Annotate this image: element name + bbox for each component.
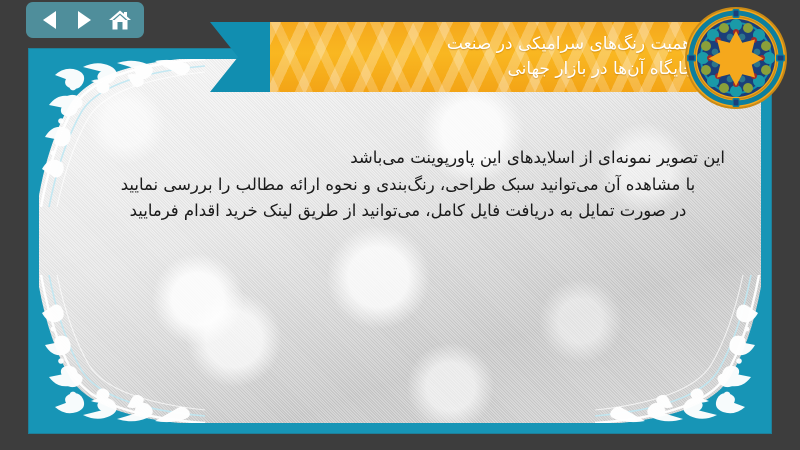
arrow-right-icon (78, 11, 91, 29)
slide-content-area: این تصویر نمونه‌ای از اسلایدهای این پاور… (39, 59, 761, 423)
arabesque-corner-ornament-bottom-left (39, 275, 205, 423)
body-line-1: این تصویر نمونه‌ای از اسلایدهای این پاور… (79, 145, 737, 172)
arabesque-corner-ornament-bottom-right (595, 275, 761, 423)
navigation-toolbar (26, 2, 144, 38)
arrow-left-icon (43, 11, 56, 29)
next-slide-button[interactable] (70, 6, 100, 34)
home-icon (108, 9, 132, 31)
slide-body-text: این تصویر نمونه‌ای از اسلایدهای این پاور… (79, 145, 737, 225)
home-button[interactable] (105, 6, 135, 34)
body-line-3: در صورت تمایل به دریافت فایل کامل، می‌تو… (79, 198, 737, 225)
slide-stage: این تصویر نمونه‌ای از اسلایدهای این پاور… (0, 0, 800, 450)
slide-frame: این تصویر نمونه‌ای از اسلایدهای این پاور… (28, 48, 772, 434)
previous-slide-button[interactable] (35, 6, 65, 34)
body-line-2: با مشاهده آن می‌توانید سبک طراحی، رنگ‌بن… (79, 172, 737, 199)
title-notch-shape (210, 22, 272, 92)
islamic-medallion-ornament (684, 6, 788, 110)
